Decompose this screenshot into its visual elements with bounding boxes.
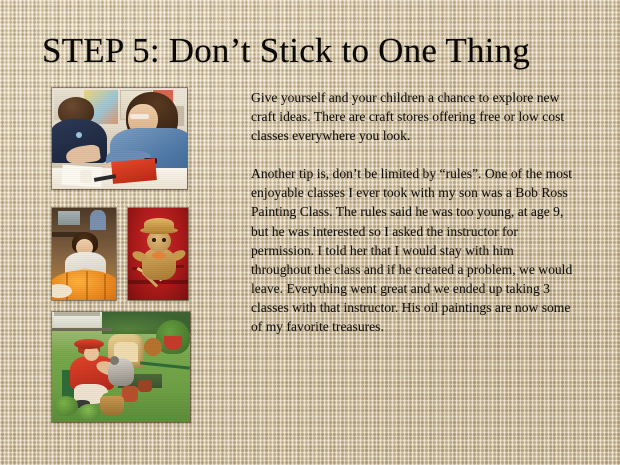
photo-pumpkin-rib-center: [86, 271, 88, 300]
photo-crafting-woman-left-badge: [76, 132, 82, 138]
photo-scarecrow-scene: [128, 208, 188, 300]
photo-crafting-scene: [52, 88, 187, 189]
body-paragraph-1: Give yourself and your children a chance…: [251, 88, 573, 145]
photo-gardening-fence: [52, 328, 112, 331]
photo-scarecrow-cushion-seam-lower: [128, 280, 188, 284]
photo-crafting-class: [52, 88, 187, 189]
photo-gardening-hanging-pot: [164, 336, 182, 350]
photo-scarecrow-hat-crown: [144, 218, 174, 230]
photo-pumpkin-rib-right: [104, 274, 106, 300]
photo-gardening-dog-ear: [110, 356, 119, 365]
photo-gardening-clay-pot-large: [122, 386, 138, 402]
slide-body-text: Give yourself and your children a chance…: [251, 88, 573, 336]
body-paragraph-2: Another tip is, don’t be limited by “rul…: [251, 164, 573, 336]
photo-straw-scarecrow: [128, 208, 188, 300]
slide-canvas: STEP 5: Don’t Stick to One Thing Give yo…: [0, 0, 620, 465]
photo-gardening-side-table: [144, 338, 162, 356]
photo-scarecrow-eye-right: [162, 238, 166, 242]
photo-gardening-roof: [54, 312, 100, 316]
photo-gardening-woman-hat: [74, 339, 104, 349]
photo-gardening-plant-left: [54, 396, 78, 416]
photo-crafting-red-book: [111, 158, 157, 184]
photo-gardening-basket: [100, 396, 124, 416]
photo-gardening-clay-pot-small: [138, 380, 152, 392]
photo-gardening-plant-middle: [78, 404, 100, 420]
photo-gardening-scene: [52, 312, 190, 422]
photo-gardening: [52, 312, 190, 422]
photo-crafting-cup: [80, 170, 92, 183]
photo-crafting-woman-right-glasses: [130, 114, 149, 119]
photo-pumpkin-scene: [52, 208, 116, 300]
photo-pumpkin-background-figure: [90, 210, 106, 230]
slide-title: STEP 5: Don’t Stick to One Thing: [42, 30, 602, 72]
photo-pumpkin-carving: [52, 208, 116, 300]
photo-scarecrow-bow: [152, 252, 166, 259]
photo-pumpkin-window: [58, 211, 80, 225]
photo-scarecrow-eye-left: [152, 238, 156, 242]
